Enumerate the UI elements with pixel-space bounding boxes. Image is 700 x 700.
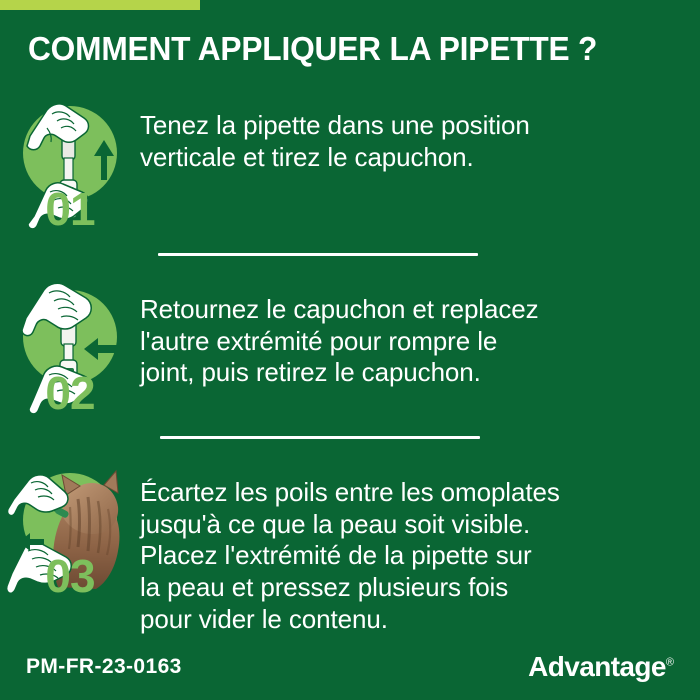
step-icon-03: 03 bbox=[0, 455, 140, 605]
step-number-02: 02 bbox=[0, 370, 140, 416]
step-text-line: joint, puis retirez le capuchon. bbox=[140, 357, 539, 389]
step-text-03: Écartez les poils entre les omoplates ju… bbox=[140, 455, 574, 636]
up-arrow-icon bbox=[94, 140, 114, 180]
page-title: COMMENT APPLIQUER LA PIPETTE ? bbox=[28, 32, 654, 67]
step-text-01: Tenez la pipette dans une position verti… bbox=[140, 88, 544, 173]
step-text-line: pour vider le contenu. bbox=[140, 604, 560, 636]
footer: PM-FR-23-0163 Advantage® bbox=[0, 650, 700, 684]
step-item-02: 02 Retournez le capuchon et replacez l'a… bbox=[0, 272, 700, 422]
step-item-01: 01 Tenez la pipette dans une position ve… bbox=[0, 88, 700, 238]
step-text-line: Écartez les poils entre les omoplates bbox=[140, 477, 560, 509]
left-arrow-icon bbox=[84, 338, 118, 360]
step-text-line: Placez l'extrémité de la pipette sur bbox=[140, 540, 560, 572]
step-text-line: la peau et pressez plusieurs fois bbox=[140, 572, 560, 604]
infographic-page: COMMENT APPLIQUER LA PIPETTE ? bbox=[0, 0, 700, 700]
steps-list: 01 Tenez la pipette dans une position ve… bbox=[0, 88, 700, 636]
step-number-01: 01 bbox=[0, 186, 140, 232]
brand-logo: Advantage® bbox=[528, 651, 674, 683]
registered-trademark-icon: ® bbox=[666, 657, 674, 669]
step-text-line: l'autre extrémité pour rompre le bbox=[140, 326, 539, 358]
step-icon-01: 01 bbox=[0, 88, 140, 238]
step-text-line: jusqu'à ce que la peau soit visible. bbox=[140, 509, 560, 541]
brand-name: Advantage bbox=[528, 651, 666, 682]
top-accent-bar bbox=[0, 0, 200, 10]
step-text-line: Retournez le capuchon et replacez bbox=[140, 294, 539, 326]
step-text-line: Tenez la pipette dans une position bbox=[140, 110, 530, 142]
step-number-03: 03 bbox=[0, 553, 140, 599]
step-icon-02: 02 bbox=[0, 272, 140, 422]
step-item-03: 03 Écartez les poils entre les omoplates… bbox=[0, 455, 700, 636]
step-text-02: Retournez le capuchon et replacez l'autr… bbox=[140, 272, 553, 389]
document-code: PM-FR-23-0163 bbox=[26, 655, 182, 679]
step-text-line: verticale et tirez le capuchon. bbox=[140, 142, 530, 174]
